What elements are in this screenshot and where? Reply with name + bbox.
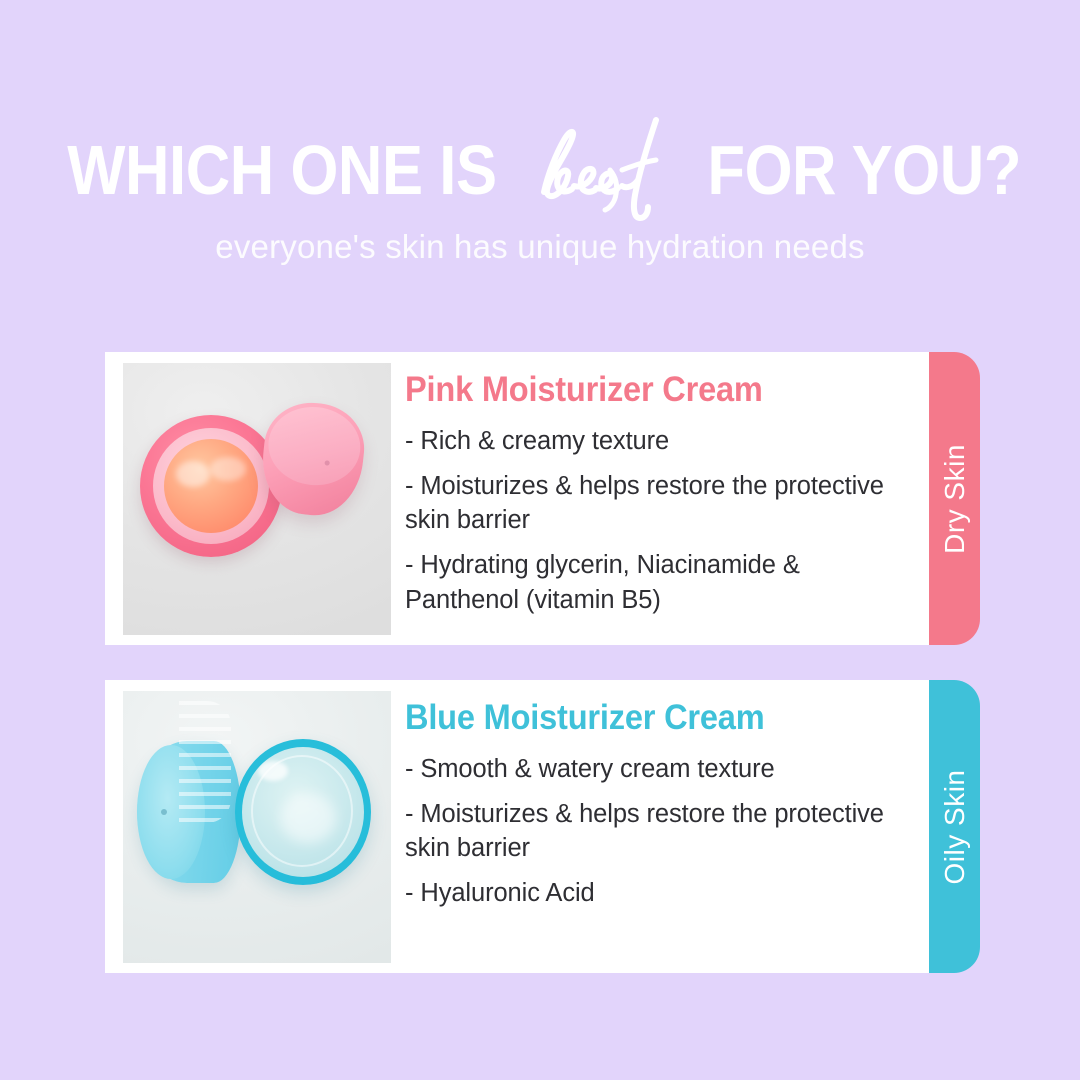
product-feature-bullet: - Rich & creamy texture xyxy=(405,424,917,458)
product-feature-bullet: - Hyaluronic Acid xyxy=(405,876,917,910)
blue-moisturizer-jar-photo xyxy=(123,691,391,963)
pink-moisturizer-jar-photo xyxy=(123,363,391,635)
blue-jar-body-icon xyxy=(235,739,371,885)
card-text-block: Blue Moisturizer Cream - Smooth & watery… xyxy=(405,698,917,911)
card-surface: Pink Moisturizer Cream - Rich & creamy t… xyxy=(105,352,931,645)
pink-cream-content-icon xyxy=(164,439,258,533)
headline-post-text: FOR YOU? xyxy=(707,128,1021,212)
blue-lid-center-dot-icon xyxy=(161,809,167,815)
product-feature-bullet: - Moisturizes & helps restore the protec… xyxy=(405,797,917,865)
skin-type-tab-oily-skin[interactable]: Oily Skin xyxy=(929,680,980,973)
product-card-blue[interactable]: Blue Moisturizer Cream - Smooth & watery… xyxy=(105,680,975,973)
page-subtitle: everyone's skin has unique hydration nee… xyxy=(0,228,1080,266)
header: WHICH ONE IS xyxy=(0,128,1080,266)
product-title-blue: Blue Moisturizer Cream xyxy=(405,698,881,738)
page-title: WHICH ONE IS xyxy=(0,128,1080,212)
skin-type-tab-label: Oily Skin xyxy=(939,769,971,884)
headline-script-word-best: best xyxy=(526,128,686,212)
product-feature-bullet: - Smooth & watery cream texture xyxy=(405,752,917,786)
product-feature-bullet: - Hydrating glycerin, Niacinamide & Pant… xyxy=(405,548,917,616)
product-card-pink[interactable]: Pink Moisturizer Cream - Rich & creamy t… xyxy=(105,352,975,645)
skin-type-tab-dry-skin[interactable]: Dry Skin xyxy=(929,352,980,645)
product-title-pink: Pink Moisturizer Cream xyxy=(405,370,881,410)
blue-lid-threads-icon xyxy=(179,701,231,823)
product-feature-bullet: - Moisturizes & helps restore the protec… xyxy=(405,469,917,537)
blue-gel-highlight-ring-icon xyxy=(251,755,353,867)
pink-jar-rim-icon xyxy=(153,428,269,544)
skin-type-tab-label: Dry Skin xyxy=(939,444,971,554)
headline-pre-text: WHICH ONE IS xyxy=(67,128,496,212)
card-surface: Blue Moisturizer Cream - Smooth & watery… xyxy=(105,680,931,973)
pink-jar-body-icon xyxy=(140,415,282,557)
card-text-block: Pink Moisturizer Cream - Rich & creamy t… xyxy=(405,370,917,617)
